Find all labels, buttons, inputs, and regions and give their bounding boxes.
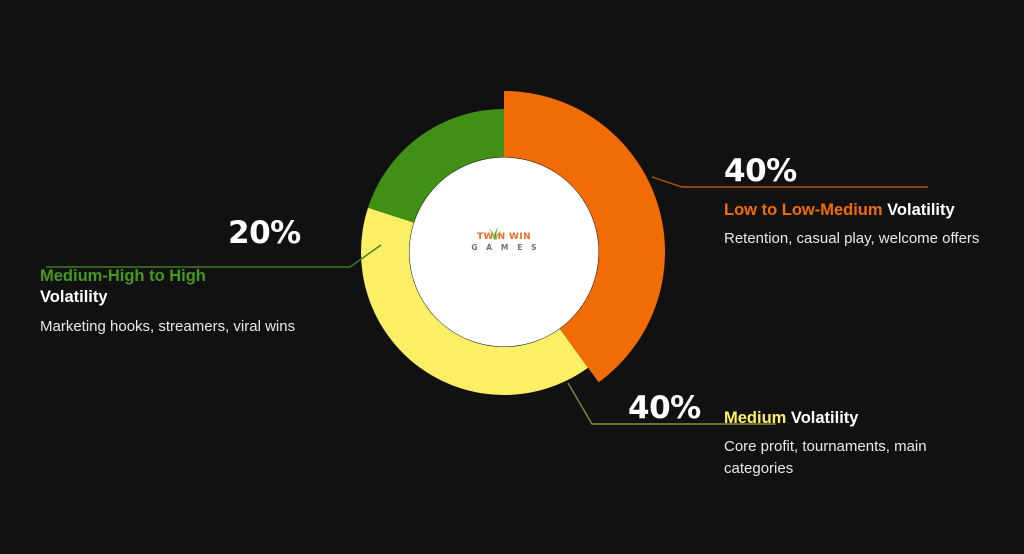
- percent-label-low-to-low-medium: 40%: [724, 155, 797, 188]
- callout-category-tail: Volatility: [40, 288, 108, 306]
- donut-center-hub: [410, 158, 599, 347]
- callout-medium[interactable]: Medium Volatility Core profit, tournamen…: [724, 408, 992, 479]
- infographic-canvas: TWIN WIN G A M E S 40% Low to Low-Medium…: [0, 0, 1024, 554]
- callout-low-to-low-medium[interactable]: Low to Low-Medium Volatility Retention, …: [724, 200, 996, 250]
- callout-category-medium-high-to-high: Medium-High to High Volatility: [40, 266, 308, 309]
- callout-category-lead: Medium: [724, 409, 786, 427]
- percent-label-medium-high-to-high: 20%: [228, 217, 301, 250]
- callout-medium-high-to-high[interactable]: Medium-High to High Volatility Marketing…: [40, 266, 308, 337]
- leader-line-medium-high-to-high: [46, 245, 381, 267]
- callout-category-tail: Volatility: [786, 409, 858, 427]
- percent-label-medium: 40%: [628, 392, 701, 425]
- callout-category-tail: Volatility: [883, 201, 955, 219]
- callout-description-medium: Core profit, tournaments, main categorie…: [724, 436, 992, 479]
- callout-description-low-to-low-medium: Retention, casual play, welcome offers: [724, 228, 996, 249]
- callout-category-low-to-low-medium: Low to Low-Medium Volatility: [724, 200, 996, 221]
- callout-category-medium: Medium Volatility: [724, 408, 992, 429]
- callout-category-lead: Medium-High to High: [40, 267, 206, 285]
- callout-category-lead: Low to Low-Medium: [724, 201, 883, 219]
- callout-description-medium-high-to-high: Marketing hooks, streamers, viral wins: [40, 316, 308, 337]
